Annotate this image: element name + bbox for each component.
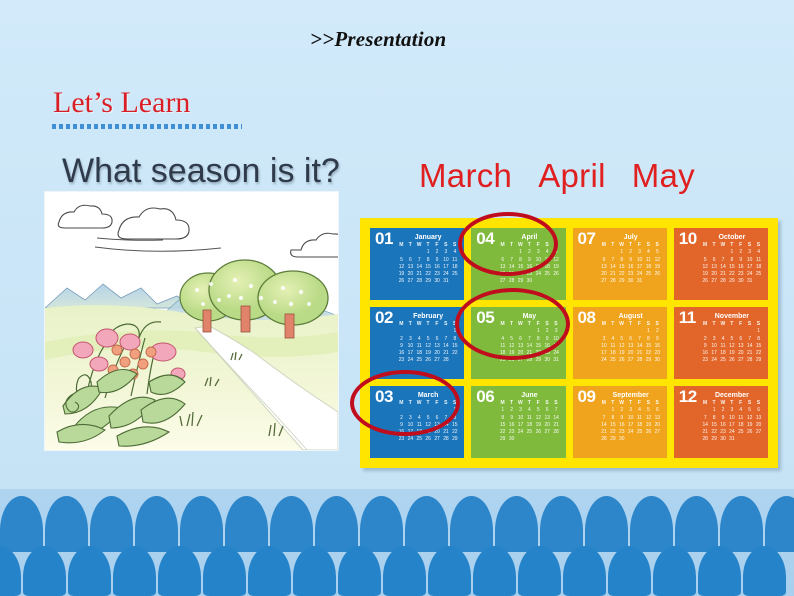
- calendar-day-cell: [441, 407, 450, 414]
- calendar-day-cell: 9: [507, 415, 516, 422]
- calendar-day-cell: 13: [710, 264, 719, 271]
- calendar-day-cell: 21: [507, 271, 516, 278]
- calendar-day-grid: MTWTFSS123456789101112131415161718192021…: [679, 400, 763, 444]
- calendar-day-cell: 9: [701, 343, 710, 350]
- calendar-day-cell: 11: [719, 343, 728, 350]
- calendar-day-cell: 24: [745, 271, 754, 278]
- calendar-week-row: 11121314151617: [498, 343, 560, 350]
- spring-landscape-image: [45, 192, 338, 450]
- calendar-day-header: W: [516, 400, 525, 407]
- calendar-day-cell: 21: [415, 271, 424, 278]
- calendar-day-header: S: [644, 242, 653, 249]
- calendar-day-cell: 18: [719, 350, 728, 357]
- calendar-week-row: 567891011: [397, 257, 459, 264]
- calendar-month-number: 05: [476, 309, 494, 326]
- calendar-day-cell: 22: [727, 271, 736, 278]
- calendar-day-cell: 25: [498, 357, 507, 364]
- calendar-day-cell: 3: [516, 407, 525, 414]
- calendar-day-cell: 6: [653, 407, 662, 414]
- calendar-day-cell: 27: [653, 429, 662, 436]
- calendar-day-cell: 24: [534, 271, 543, 278]
- calendar-day-cell: 8: [450, 336, 459, 343]
- calendar-day-header: F: [736, 242, 745, 249]
- calendar-day-cell: 8: [710, 415, 719, 422]
- calendar-day-cell: 13: [433, 343, 442, 350]
- calendar-day-header: M: [600, 321, 609, 328]
- calendar-day-cell: 19: [424, 429, 433, 436]
- calendar-week-row: 13141516171819: [498, 264, 560, 271]
- calendar-day-cell: 3: [406, 415, 415, 422]
- calendar-day-header: S: [754, 242, 763, 249]
- calendar-day-cell: 1: [516, 249, 525, 256]
- calendar-day-cell: 16: [736, 264, 745, 271]
- calendar-day-cell: 5: [727, 336, 736, 343]
- calendar-day-cell: 6: [600, 257, 609, 264]
- arch-row-bottom: [0, 546, 794, 596]
- calendar-day-cell: 11: [543, 257, 552, 264]
- arch-shape: [765, 496, 794, 552]
- calendar-day-header: T: [424, 321, 433, 328]
- calendar-day-cell: [525, 328, 534, 335]
- calendar-day-cell: 11: [754, 257, 763, 264]
- calendar-month-cell[interactable]: 11NovemberMTWTFSS12345678910111213141516…: [674, 307, 768, 379]
- calendar-day-header: S: [450, 321, 459, 328]
- calendar-day-cell: [701, 407, 710, 414]
- calendar-day-cell: 4: [525, 407, 534, 414]
- calendar-week-row: 20212223242526: [498, 271, 560, 278]
- calendar-day-cell: 31: [552, 357, 561, 364]
- calendar-day-cell: 11: [498, 343, 507, 350]
- calendar-week-row: 6789101112: [600, 257, 662, 264]
- calendar-day-cell: [424, 407, 433, 414]
- calendar-day-cell: 4: [736, 407, 745, 414]
- calendar-day-cell: 15: [424, 264, 433, 271]
- calendar-day-cell: 14: [552, 415, 561, 422]
- calendar-day-header: T: [727, 400, 736, 407]
- calendar-day-header: W: [415, 321, 424, 328]
- calendar-month-cell[interactable]: 10OctoberMTWTFSS123456789101112131415161…: [674, 228, 768, 300]
- calendar-day-cell: 14: [719, 264, 728, 271]
- calendar-week-row: 18192021222324: [498, 350, 560, 357]
- calendar-day-cell: 21: [608, 271, 617, 278]
- calendar-month-cell[interactable]: 12DecemberMTWTFSS12345678910111213141516…: [674, 386, 768, 458]
- calendar-day-cell: 6: [516, 336, 525, 343]
- calendar-day-cell: 4: [608, 336, 617, 343]
- calendar-day-headers: MTWTFSS: [600, 321, 662, 328]
- arch-shape: [450, 496, 493, 552]
- calendar-day-cell: 19: [552, 264, 561, 271]
- arch-shape: [428, 546, 471, 596]
- calendar-day-header: W: [415, 242, 424, 249]
- calendar-day-cell: 26: [745, 429, 754, 436]
- calendar-day-headers: MTWTFSS: [397, 321, 459, 328]
- calendar-day-cell: 27: [498, 278, 507, 285]
- calendar-week-row: 123456: [701, 407, 763, 414]
- calendar-day-cell: 9: [525, 257, 534, 264]
- calendar-day-cell: 14: [600, 422, 609, 429]
- calendar-day-cell: [653, 278, 662, 285]
- arch-shape: [608, 546, 651, 596]
- calendar-day-header: T: [507, 242, 516, 249]
- calendar-day-header: W: [719, 400, 728, 407]
- calendar-day-header: F: [433, 321, 442, 328]
- calendar-day-cell: 28: [507, 278, 516, 285]
- arch-shape: [495, 496, 538, 552]
- calendar-month-cell[interactable]: 04AprilMTWTFSS12345678910111213141516171…: [471, 228, 565, 300]
- month-word-may: May: [632, 157, 695, 194]
- calendar-month-cell[interactable]: 02FebruaryMTWTFSS12345678910111213141516…: [370, 307, 464, 379]
- calendar-day-cell: 18: [608, 350, 617, 357]
- calendar-day-cell: [450, 357, 459, 364]
- calendar-month-number: 01: [375, 230, 393, 247]
- calendar-day-cell: 14: [415, 264, 424, 271]
- calendar-week-row: 2345678: [701, 336, 763, 343]
- arch-shape: [135, 496, 178, 552]
- calendar-day-cell: 17: [406, 429, 415, 436]
- calendar-day-cell: 2: [626, 249, 635, 256]
- calendar-day-cell: 23: [397, 357, 406, 364]
- calendar-day-cell: [507, 328, 516, 335]
- calendar-day-cell: 28: [608, 278, 617, 285]
- arch-shape: [698, 546, 741, 596]
- calendar-day-cell: 30: [626, 278, 635, 285]
- calendar-day-cell: 29: [450, 436, 459, 443]
- calendar-day-cell: 11: [450, 257, 459, 264]
- calendar-day-cell: 7: [701, 415, 710, 422]
- calendar-day-cell: 5: [745, 407, 754, 414]
- calendar-day-header: M: [600, 400, 609, 407]
- calendar-day-cell: [710, 249, 719, 256]
- calendar-day-cell: 7: [745, 336, 754, 343]
- calendar-day-cell: 31: [441, 278, 450, 285]
- calendar-day-cell: 2: [507, 407, 516, 414]
- calendar-day-header: M: [498, 400, 507, 407]
- calendar-day-cell: 14: [608, 264, 617, 271]
- calendar-day-header: S: [441, 400, 450, 407]
- calendar-day-cell: 14: [635, 343, 644, 350]
- calendar-day-cell: 15: [608, 422, 617, 429]
- calendar-day-cell: 10: [626, 415, 635, 422]
- calendar-day-header: M: [397, 400, 406, 407]
- calendar-day-cell: 18: [644, 264, 653, 271]
- calendar-day-cell: 26: [424, 436, 433, 443]
- arch-shape: [405, 496, 448, 552]
- calendar-day-cell: 7: [441, 415, 450, 422]
- arch-shape: [180, 496, 223, 552]
- calendar-day-header: S: [644, 400, 653, 407]
- calendar-day-cell: 1: [498, 407, 507, 414]
- calendar-day-cell: 2: [719, 407, 728, 414]
- calendar-day-grid: MTWTFSS123456789101112131415161718192021…: [476, 321, 560, 365]
- calendar-day-cell: 17: [516, 422, 525, 429]
- calendar-day-cell: 23: [653, 350, 662, 357]
- calendar-day-header: S: [644, 321, 653, 328]
- arch-shape: [45, 496, 88, 552]
- calendar-day-header: S: [543, 321, 552, 328]
- calendar-day-cell: [600, 249, 609, 256]
- calendar-month-cell[interactable]: 09SeptemberMTWTFSS1234567891011121314151…: [573, 386, 667, 458]
- calendar-day-grid: MTWTFSS123456789101112131415161718192021…: [375, 321, 459, 365]
- calendar-day-cell: 16: [543, 343, 552, 350]
- calendar-day-cell: 11: [525, 415, 534, 422]
- calendar-day-cell: 3: [745, 249, 754, 256]
- calendar-day-grid: MTWTFSS123456789101112131415161718192021…: [578, 400, 662, 444]
- calendar-day-cell: 28: [635, 357, 644, 364]
- calendar-day-cell: 21: [701, 429, 710, 436]
- calendar-week-row: 1234: [397, 249, 459, 256]
- calendar-day-cell: 18: [525, 422, 534, 429]
- arch-shape: [0, 496, 43, 552]
- calendar-day-cell: 17: [534, 264, 543, 271]
- calendar-day-cell: 13: [600, 264, 609, 271]
- calendar-day-header: S: [543, 242, 552, 249]
- calendar-day-cell: 18: [450, 264, 459, 271]
- calendar-day-headers: MTWTFSS: [397, 400, 459, 407]
- calendar-month-number: 11: [679, 309, 696, 326]
- calendar-day-cell: 27: [626, 357, 635, 364]
- calendar-day-header: M: [397, 321, 406, 328]
- calendar-day-cell: [498, 249, 507, 256]
- calendar-day-cell: 28: [745, 357, 754, 364]
- calendar-week-row: 14151617181920: [600, 422, 662, 429]
- calendar-day-cell: 28: [441, 357, 450, 364]
- calendar-day-cell: 20: [754, 422, 763, 429]
- calendar-day-cell: 11: [736, 415, 745, 422]
- calendar-day-cell: 24: [635, 271, 644, 278]
- calendar-week-row: 1234567: [498, 407, 560, 414]
- calendar-day-cell: 20: [498, 271, 507, 278]
- calendar-day-header: M: [498, 242, 507, 249]
- calendar-day-cell: 10: [635, 257, 644, 264]
- calendar-day-cell: [608, 328, 617, 335]
- calendar-day-cell: 21: [600, 429, 609, 436]
- calendar-day-cell: 29: [534, 357, 543, 364]
- calendar-week-row: 19202122232425: [397, 271, 459, 278]
- calendar-day-cell: 13: [498, 264, 507, 271]
- calendar-day-cell: 27: [543, 429, 552, 436]
- calendar-day-cell: 7: [608, 257, 617, 264]
- arch-shape: [360, 496, 403, 552]
- calendar-day-cell: 23: [507, 429, 516, 436]
- calendar-week-row: 27282930: [498, 278, 560, 285]
- calendar-day-cell: [745, 436, 754, 443]
- calendar-day-cell: 30: [507, 436, 516, 443]
- calendar-day-cell: [415, 407, 424, 414]
- calendar-day-cell: 5: [653, 249, 662, 256]
- calendar-day-cell: 19: [653, 264, 662, 271]
- arch-shape: [563, 546, 606, 596]
- calendar-week-row: 9101112131415: [397, 343, 459, 350]
- calendar-day-headers: MTWTFSS: [498, 400, 560, 407]
- calendar-day-cell: 23: [701, 357, 710, 364]
- arch-shape: [675, 496, 718, 552]
- calendar-day-cell: 20: [433, 429, 442, 436]
- calendar-day-cell: [516, 328, 525, 335]
- calendar-day-cell: 1: [534, 328, 543, 335]
- question-text: What season is it?: [62, 152, 340, 191]
- calendar-day-cell: [617, 328, 626, 335]
- calendar-month-number: 08: [578, 309, 596, 326]
- calendar-day-cell: 28: [552, 429, 561, 436]
- calendar-day-headers: MTWTFSS: [600, 242, 662, 249]
- calendar-day-header: T: [525, 321, 534, 328]
- calendar-day-header: W: [719, 321, 728, 328]
- calendar-month-cell[interactable]: 05MayMTWTFSS1234567891011121314151617181…: [471, 307, 565, 379]
- calendar-day-cell: 30: [719, 436, 728, 443]
- calendar-month-cell[interactable]: 07JulyMTWTFSS123456789101112131415161718…: [573, 228, 667, 300]
- calendar-month-cell[interactable]: 08AugustMTWTFSS1234567891011121314151617…: [573, 307, 667, 379]
- calendar-day-cell: 17: [635, 264, 644, 271]
- calendar-day-header: W: [516, 242, 525, 249]
- calendar-day-cell: [498, 328, 507, 335]
- calendar-month-number: 04: [476, 230, 494, 247]
- calendar-month-number: 12: [679, 388, 697, 405]
- calendar-day-header: S: [653, 400, 662, 407]
- calendar-day-cell: 12: [534, 415, 543, 422]
- calendar-day-cell: 7: [525, 336, 534, 343]
- calendar-day-cell: 22: [450, 429, 459, 436]
- calendar-day-cell: 9: [397, 343, 406, 350]
- calendar-day-cell: 19: [507, 350, 516, 357]
- calendar-day-cell: 15: [498, 422, 507, 429]
- calendar-week-row: 20212223242526: [600, 271, 662, 278]
- calendar-day-header: M: [498, 321, 507, 328]
- calendar-day-cell: 9: [719, 415, 728, 422]
- calendar-day-cell: 24: [516, 429, 525, 436]
- calendar-day-cell: [727, 328, 736, 335]
- calendar-day-cell: 11: [644, 257, 653, 264]
- calendar-day-cell: 24: [626, 429, 635, 436]
- calendar-day-cell: 19: [644, 422, 653, 429]
- calendar-day-cell: 7: [600, 415, 609, 422]
- arch-shape: [0, 546, 21, 596]
- calendar-day-cell: 23: [397, 436, 406, 443]
- calendar-day-cell: 20: [433, 350, 442, 357]
- calendar-day-cell: 28: [415, 278, 424, 285]
- calendar-day-cell: 27: [710, 278, 719, 285]
- calendar-day-cell: [516, 436, 525, 443]
- calendar-day-cell: 21: [745, 350, 754, 357]
- calendar-month-cell[interactable]: 06JuneMTWTFSS123456789101112131415161718…: [471, 386, 565, 458]
- calendar-day-cell: [415, 328, 424, 335]
- calendar-day-header: M: [600, 242, 609, 249]
- calendar-day-cell: [719, 328, 728, 335]
- calendar-day-cell: 24: [441, 271, 450, 278]
- calendar-day-header: S: [543, 400, 552, 407]
- calendar-day-cell: 17: [406, 350, 415, 357]
- calendar-day-header: S: [754, 400, 763, 407]
- calendar-day-cell: 30: [543, 357, 552, 364]
- calendar-day-cell: [406, 407, 415, 414]
- calendar-day-cell: 23: [433, 271, 442, 278]
- calendar-day-cell: 2: [525, 249, 534, 256]
- calendar-day-cell: 3: [710, 336, 719, 343]
- calendar-day-header: F: [635, 242, 644, 249]
- calendar-day-cell: 25: [719, 357, 728, 364]
- calendar-day-cell: [534, 278, 543, 285]
- calendar-day-cell: [424, 328, 433, 335]
- calendar-day-header: F: [635, 321, 644, 328]
- calendar-month-cell[interactable]: 03MarchMTWTFSS12345678910111213141516171…: [370, 386, 464, 458]
- calendar-day-header: M: [397, 242, 406, 249]
- calendar-week-row: 19202122232425: [701, 271, 763, 278]
- calendar-day-header: W: [617, 242, 626, 249]
- calendar-day-cell: [701, 328, 710, 335]
- calendar-week-row: 2345678: [397, 415, 459, 422]
- calendar-month-number: 10: [679, 230, 697, 247]
- calendar-day-cell: 24: [406, 357, 415, 364]
- calendar-day-cell: 25: [608, 357, 617, 364]
- calendar-day-cell: 30: [433, 278, 442, 285]
- calendar-week-row: 1: [397, 407, 459, 414]
- arch-shape: [203, 546, 246, 596]
- arch-shape: [653, 546, 696, 596]
- calendar-week-row: 123456: [600, 407, 662, 414]
- calendar-day-cell: 2: [736, 249, 745, 256]
- calendar-day-cell: 24: [727, 429, 736, 436]
- calendar-day-cell: [635, 328, 644, 335]
- calendar-day-cell: 30: [617, 436, 626, 443]
- calendar-day-cell: [635, 436, 644, 443]
- calendar-day-cell: 1: [644, 328, 653, 335]
- calendar-day-cell: 15: [450, 422, 459, 429]
- calendar-day-cell: 25: [644, 271, 653, 278]
- arch-shape: [585, 496, 628, 552]
- calendar-day-cell: 10: [745, 257, 754, 264]
- calendar-week-row: 25262728293031: [498, 357, 560, 364]
- calendar-day-cell: [543, 278, 552, 285]
- calendar-day-cell: 9: [433, 257, 442, 264]
- calendar-day-cell: 14: [507, 264, 516, 271]
- calendar-day-cell: [626, 328, 635, 335]
- arch-shape: [158, 546, 201, 596]
- calendar-day-cell: 26: [552, 271, 561, 278]
- calendar-month-cell[interactable]: 01JanuaryMTWTFSS123456789101112131415161…: [370, 228, 464, 300]
- calendar-day-cell: 1: [710, 407, 719, 414]
- calendar-day-cell: 28: [701, 436, 710, 443]
- calendar-day-cell: 22: [534, 350, 543, 357]
- calendar-day-cell: 25: [415, 357, 424, 364]
- calendar-day-cell: 27: [433, 357, 442, 364]
- calendar-month-number: 07: [578, 230, 596, 247]
- calendar-day-cell: [719, 249, 728, 256]
- calendar-day-cell: [644, 436, 653, 443]
- calendar-day-cell: 8: [644, 336, 653, 343]
- calendar-day-cell: 16: [397, 429, 406, 436]
- calendar-day-cell: 19: [727, 350, 736, 357]
- calendar-day-header: F: [433, 400, 442, 407]
- calendar-day-header: F: [534, 321, 543, 328]
- calendar-day-header: S: [745, 242, 754, 249]
- calendar-week-row: 14151617181920: [701, 422, 763, 429]
- calendar-day-header: W: [516, 321, 525, 328]
- calendar-day-cell: 27: [516, 357, 525, 364]
- calendar-day-cell: 12: [653, 257, 662, 264]
- calendar-day-header: S: [441, 242, 450, 249]
- calendar-week-row: 12345: [498, 249, 560, 256]
- calendar-day-header: F: [635, 400, 644, 407]
- calendar-week-row: 22232425262728: [498, 429, 560, 436]
- calendar-day-cell: 16: [397, 350, 406, 357]
- calendar-week-row: 15161718192021: [498, 422, 560, 429]
- calendar-day-grid: MTWTFSS123456789101112131415161718192021…: [679, 321, 763, 365]
- calendar-week-row: 891011121314: [498, 415, 560, 422]
- calendar-week-row: 78910111213: [701, 415, 763, 422]
- calendar-day-cell: 13: [736, 343, 745, 350]
- calendar-day-cell: 21: [635, 350, 644, 357]
- calendar-day-cell: 29: [498, 436, 507, 443]
- calendar-day-header: S: [552, 400, 561, 407]
